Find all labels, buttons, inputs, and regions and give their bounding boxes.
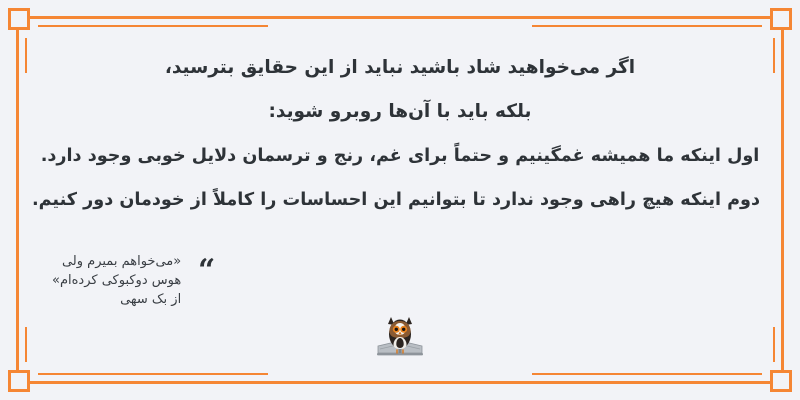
frame-accent-left-bottom xyxy=(25,327,27,362)
corner-square-top-left xyxy=(8,8,30,30)
frame-rule-top xyxy=(17,16,783,19)
frame-accent-top-right xyxy=(722,25,762,27)
attribution-inner: “ «می‌خواهم بمیرم ولی هوس دوکبوکی کرده‌ا… xyxy=(52,252,181,309)
quote-line-2: بلکه باید با آن‌ها روبرو شوید: xyxy=(40,90,760,134)
frame-midrule-bottom-right xyxy=(532,373,722,375)
quote-line-1: اگر می‌خواهید شاد باشید نباید از این حقا… xyxy=(40,46,760,90)
frame-accent-bottom-left xyxy=(38,373,78,375)
attribution-author: از بک سهی xyxy=(52,290,181,309)
card-content: اگر می‌خواهید شاد باشید نباید از این حقا… xyxy=(40,46,760,354)
corner-square-top-right xyxy=(770,8,792,30)
quote-card: اگر می‌خواهید شاد باشید نباید از این حقا… xyxy=(0,0,800,400)
frame-accent-left-top xyxy=(25,38,27,73)
frame-rule-bottom xyxy=(17,381,783,384)
frame-accent-top-left xyxy=(38,25,78,27)
corner-square-bottom-left xyxy=(8,370,30,392)
frame-accent-right-top xyxy=(773,38,775,73)
frame-midrule-top-left xyxy=(78,25,268,27)
frame-accent-bottom-right xyxy=(722,373,762,375)
attribution-block: “ «می‌خواهم بمیرم ولی هوس دوکبوکی کرده‌ا… xyxy=(40,252,290,309)
frame-midrule-top-right xyxy=(532,25,722,27)
quote-mark-icon: “ xyxy=(198,256,215,286)
owl-on-book-icon xyxy=(374,308,426,360)
frame-rule-right xyxy=(781,17,784,383)
quote-body: اگر می‌خواهید شاد باشید نباید از این حقا… xyxy=(40,46,760,222)
frame-accent-right-bottom xyxy=(773,327,775,362)
attribution-title-line-1: «می‌خواهم بمیرم ولی xyxy=(52,252,181,271)
frame-rule-left xyxy=(16,17,19,383)
quote-line-3: اول اینکه ما همیشه غمگینیم و حتماً برای … xyxy=(40,134,760,178)
corner-square-bottom-right xyxy=(770,370,792,392)
quote-line-4: دوم اینکه هیچ راهی وجود ندارد تا بتوانیم… xyxy=(40,178,760,222)
attribution-title-line-2: هوس دوکبوکی کرده‌ام» xyxy=(52,271,181,290)
frame-midrule-bottom-left xyxy=(78,373,268,375)
